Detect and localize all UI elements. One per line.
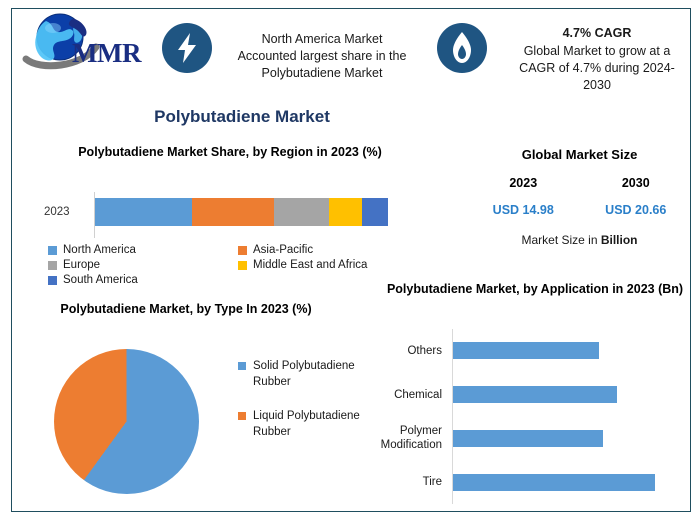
callout-line-2: Accounted largest share in the [217, 48, 427, 65]
legend-swatch-icon [48, 261, 57, 270]
cagr-heading: 4.7% CAGR [497, 25, 697, 42]
gms-title: Global Market Size [467, 147, 692, 162]
region-legend-label: South America [63, 274, 138, 286]
north-america-callout: North America Market Accounted largest s… [217, 31, 427, 82]
application-bar [453, 342, 599, 359]
application-chart: Polybutadiene Market, by Application in … [380, 281, 690, 298]
region-category-label: 2023 [44, 206, 70, 218]
application-bar [453, 430, 603, 447]
region-legend-item[interactable]: Asia-Pacific [238, 244, 428, 256]
flame-icon-badge [437, 23, 487, 73]
region-segment-1 [192, 198, 274, 226]
gms-years-row: 2023 2030 [467, 176, 692, 190]
region-legend-item[interactable]: South America [48, 274, 238, 286]
region-segment-3 [329, 198, 361, 226]
application-bar [453, 386, 617, 403]
bolt-icon-badge [162, 23, 212, 73]
region-segment-0 [95, 198, 192, 226]
legend-swatch-icon [238, 246, 247, 255]
gms-note-prefix: Market Size in [521, 233, 600, 247]
page-title: Polybutadiene Market [12, 107, 472, 127]
region-legend: North AmericaAsia-PacificEuropeMiddle Ea… [48, 244, 428, 289]
application-bar-row: Others [380, 329, 690, 373]
header-band: MMR North America Market Accounted large… [12, 9, 690, 97]
legend-swatch-icon [238, 261, 247, 270]
mmr-logo: MMR [20, 11, 155, 83]
legend-swatch-icon [48, 246, 57, 255]
region-legend-label: Europe [63, 259, 100, 271]
region-plot-area: 2023 [30, 192, 430, 238]
region-stacked-bar [95, 198, 388, 226]
type-legend-label: Liquid Polybutadiene Rubber [253, 408, 363, 440]
gms-year-2023: 2023 [467, 176, 580, 190]
cagr-line-3: 2030 [497, 77, 697, 94]
region-legend-label: North America [63, 244, 136, 256]
gms-unit-note: Market Size in Billion [467, 233, 692, 247]
application-bar-row: Chemical [380, 373, 690, 417]
gms-value-2030: USD 20.66 [580, 203, 693, 217]
type-legend-item[interactable]: Solid Polybutadiene Rubber [238, 358, 363, 390]
type-legend: Solid Polybutadiene RubberLiquid Polybut… [238, 358, 363, 458]
legend-swatch-icon [238, 362, 246, 370]
application-category-label: Polymer Modification [380, 424, 448, 452]
callout-line-1: North America Market [217, 31, 427, 48]
cagr-callout: 4.7% CAGR Global Market to grow at a CAG… [497, 25, 697, 94]
application-bar [453, 474, 655, 491]
region-segment-2 [274, 198, 330, 226]
region-legend-item[interactable]: Europe [48, 259, 238, 271]
infographic-frame: MMR North America Market Accounted large… [11, 8, 691, 512]
cagr-line-1: Global Market to grow at a [497, 43, 697, 60]
region-legend-item[interactable]: North America [48, 244, 238, 256]
gms-year-2030: 2030 [580, 176, 693, 190]
gms-note-unit: Billion [601, 233, 638, 247]
callout-line-3: Polybutadiene Market [217, 65, 427, 82]
application-bar-row: Polymer Modification [380, 417, 690, 461]
legend-swatch-icon [238, 412, 246, 420]
legend-swatch-icon [48, 276, 57, 285]
gms-value-2023: USD 14.98 [467, 203, 580, 217]
type-chart-title: Polybutadiene Market, by Type In 2023 (%… [36, 301, 336, 318]
region-legend-item[interactable]: Middle East and Africa [238, 259, 428, 271]
gms-values-row: USD 14.98 USD 20.66 [467, 203, 692, 217]
global-market-size-block: Global Market Size 2023 2030 USD 14.98 U… [467, 147, 692, 247]
application-plot-area: OthersChemicalPolymer ModificationTire [380, 329, 690, 504]
bolt-icon [162, 23, 212, 73]
type-legend-item[interactable]: Liquid Polybutadiene Rubber [238, 408, 363, 440]
region-share-chart: Polybutadiene Market Share, by Region in… [30, 144, 430, 161]
region-chart-title: Polybutadiene Market Share, by Region in… [30, 144, 430, 161]
region-legend-label: Middle East and Africa [253, 259, 367, 271]
logo-wordmark: MMR [72, 38, 141, 69]
region-segment-4 [362, 198, 388, 226]
type-legend-label: Solid Polybutadiene Rubber [253, 358, 363, 390]
flame-icon [437, 23, 487, 73]
application-category-label: Chemical [380, 388, 448, 402]
application-chart-title: Polybutadiene Market, by Application in … [385, 281, 685, 298]
region-legend-label: Asia-Pacific [253, 244, 313, 256]
application-bar-row: Tire [380, 460, 690, 504]
application-category-label: Tire [380, 475, 448, 489]
type-share-chart: Polybutadiene Market, by Type In 2023 (%… [26, 301, 371, 318]
application-category-label: Others [380, 344, 448, 358]
type-pie [54, 349, 199, 494]
cagr-line-2: CAGR of 4.7% during 2024- [497, 60, 697, 77]
